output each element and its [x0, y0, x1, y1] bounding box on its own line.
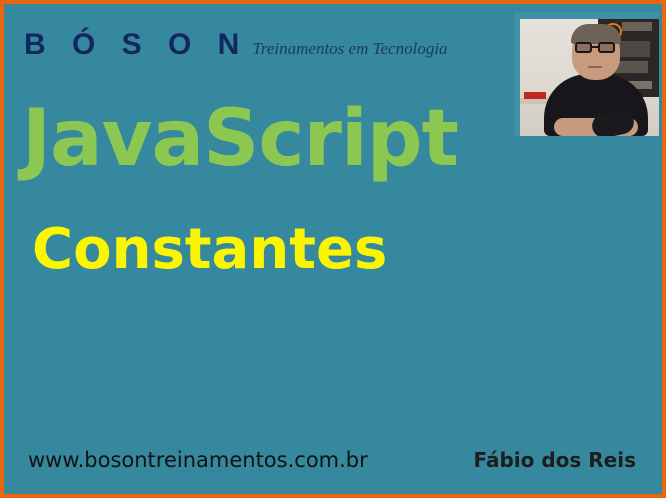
presenter-photo: [514, 12, 659, 136]
photo-red-object: [524, 92, 546, 99]
page-title: JavaScript: [22, 100, 458, 178]
presentation-slide: B Ó S O N Treinamentos em Tecnologia Jav…: [0, 0, 666, 498]
footer-website-url: www.bosontreinamentos.com.br: [28, 448, 368, 472]
page-subtitle: Constantes: [32, 222, 387, 278]
photo-left-band: [514, 12, 520, 136]
photo-person-glasses: [574, 42, 618, 53]
photo-person-mouth: [588, 66, 602, 68]
photo-person-hair: [571, 24, 621, 44]
poster-detail-bar: [622, 22, 652, 31]
brand-logo: B Ó S O N Treinamentos em Tecnologia: [24, 30, 448, 60]
glasses-left-lens: [575, 42, 592, 53]
photo-top-band: [514, 12, 659, 19]
brand-tagline: Treinamentos em Tecnologia: [252, 40, 447, 57]
glasses-right-lens: [598, 42, 615, 53]
footer-author-name: Fábio dos Reis: [473, 448, 636, 472]
brand-name: B Ó S O N: [24, 30, 248, 60]
